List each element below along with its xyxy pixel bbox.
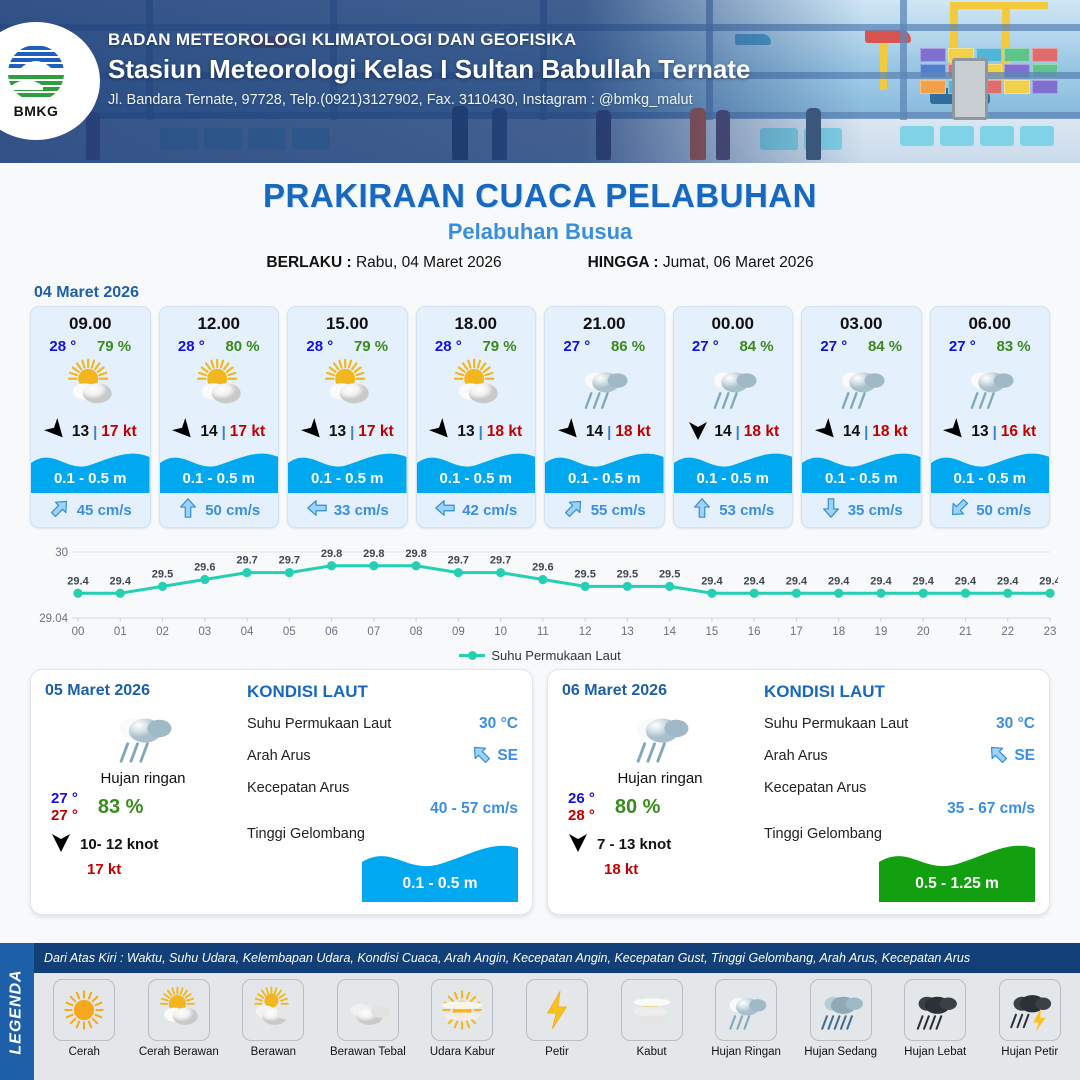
svg-text:10: 10 [494, 626, 507, 638]
daily-summary-panel: 06 Maret 2026 Hujan ringan 26 ° 28 ° 80 … [547, 669, 1050, 915]
forecast-humidity: 79 % [97, 338, 131, 355]
svg-text:23: 23 [1044, 626, 1057, 638]
summary-humidity: 83 % [98, 796, 144, 819]
svg-text:08: 08 [410, 626, 423, 638]
forecast-humidity: 79 % [482, 338, 516, 355]
legend-item: Hujan Petir [983, 979, 1076, 1058]
arrow-down-icon [177, 497, 199, 524]
summary-temps: 27 ° 27 ° 83 % [45, 790, 241, 824]
current-speed: 55 cm/s [591, 502, 646, 519]
forecast-current: 33 cm/s [288, 493, 407, 527]
udara-kabur-icon [431, 979, 493, 1041]
forecast-current: 55 cm/s [545, 493, 664, 527]
wind-gust: 17 kt [358, 423, 393, 441]
svg-text:21: 21 [959, 626, 972, 638]
berawan-tebal-icon [337, 979, 399, 1041]
svg-text:00: 00 [72, 626, 85, 638]
sst-chart-svg: 3029.0429.40029.40129.50229.60329.70429.… [22, 538, 1058, 646]
valid-until-label: HINGGA : [588, 254, 659, 271]
forecast-wave: 0.1 - 0.5 m [288, 447, 407, 493]
current-speed: 53 cm/s [719, 502, 774, 519]
wind-speed: 14 [586, 423, 603, 441]
hujan-petir-icon [999, 979, 1061, 1041]
wave-height: 0.1 - 0.5 m [545, 470, 664, 487]
svg-text:01: 01 [114, 626, 127, 638]
svg-text:02: 02 [156, 626, 169, 638]
forecast-temp-humidity: 28 ° 80 % [160, 334, 279, 355]
current-direction-row: Arah Arus SE [764, 740, 1035, 772]
station-name: Stasiun Meteorologi Kelas I Sultan Babul… [108, 54, 750, 85]
summary-gust: 17 kt [45, 861, 241, 878]
daily-summary-panel: 05 Maret 2026 Hujan ringan 27 ° 27 ° 83 … [30, 669, 533, 915]
summary-wave-value: 0.5 - 1.25 m [879, 875, 1035, 893]
cerah-icon [53, 979, 115, 1041]
forecast-wave: 0.1 - 0.5 m [160, 447, 279, 493]
current-direction-label: Arah Arus [247, 748, 311, 764]
svg-text:29.8: 29.8 [321, 548, 342, 560]
summary-temp-min: 26 ° [568, 790, 595, 807]
wind-gust: 18 kt [615, 423, 650, 441]
forecast-current: 35 cm/s [802, 493, 921, 527]
forecast-wind: 14 | 17 kt [160, 417, 279, 447]
wind-gust: 17 kt [230, 423, 265, 441]
svg-text:04: 04 [241, 626, 254, 638]
forecast-wind: 13 | 18 kt [417, 417, 536, 447]
svg-text:06: 06 [325, 626, 338, 638]
wave-height: 0.1 - 0.5 m [674, 470, 793, 487]
forecast-humidity: 86 % [611, 338, 645, 355]
svg-text:29.4: 29.4 [828, 575, 850, 587]
forecast-card: 18.00 28 ° 79 % 13 | 18 kt [416, 306, 537, 528]
forecast-wave: 0.1 - 0.5 m [802, 447, 921, 493]
current-speed-value: 35 - 67 cm/s [764, 800, 1035, 818]
current-speed-label: Kecepatan Arus [764, 780, 866, 796]
forecast-temperature: 28 ° [435, 338, 462, 355]
arrow-up-icon [820, 497, 842, 524]
hujan-ringan-icon [715, 979, 777, 1041]
forecast-temp-humidity: 27 ° 86 % [545, 334, 664, 355]
legend-item: Hujan Ringan [700, 979, 793, 1058]
forecast-temp-humidity: 27 ° 84 % [802, 334, 921, 355]
svg-text:29.4: 29.4 [870, 575, 892, 587]
wind-speed: 13 [72, 423, 89, 441]
forecast-temperature: 27 ° [563, 338, 590, 355]
svg-text:29.4: 29.4 [67, 575, 89, 587]
wind-speed: 14 [843, 423, 860, 441]
forecast-day-label: 04 Maret 2026 [34, 284, 1080, 302]
daily-summary-row: 05 Maret 2026 Hujan ringan 27 ° 27 ° 83 … [0, 669, 1080, 915]
svg-text:29.7: 29.7 [490, 555, 511, 567]
legend-note: Dari Atas Kiri : Waktu, Suhu Udara, Kele… [34, 943, 1080, 973]
svg-text:03: 03 [198, 626, 211, 638]
summary-temp-min: 27 ° [51, 790, 78, 807]
wind-speed: 14 [714, 423, 731, 441]
forecast-wind: 14 | 18 kt [545, 417, 664, 447]
summary-wave-shape: 0.1 - 0.5 m [362, 840, 518, 902]
legend-item-label: Berawan Tebal [330, 1046, 406, 1058]
forecast-wind: 14 | 18 kt [802, 417, 921, 447]
svg-text:29.5: 29.5 [574, 568, 595, 580]
wind-gust: 18 kt [487, 423, 522, 441]
agency-name: BADAN METEOROLOGI KLIMATOLOGI DAN GEOFIS… [108, 30, 750, 50]
valid-from-value: Rabu, 04 Maret 2026 [356, 254, 502, 271]
legend-item-label: Berawan [251, 1046, 296, 1058]
cerah-berawan-icon [417, 355, 536, 417]
forecast-card: 21.00 27 ° 86 % 14 | 18 kt [544, 306, 665, 528]
wave-height: 0.1 - 0.5 m [931, 470, 1050, 487]
cerah-berawan-icon [288, 355, 407, 417]
svg-text:29.7: 29.7 [236, 555, 257, 567]
forecast-time: 21.00 [545, 307, 664, 334]
arrow-south-icon [49, 831, 73, 858]
svg-text:29.4: 29.4 [913, 575, 935, 587]
svg-text:13: 13 [621, 626, 634, 638]
forecast-temp-humidity: 28 ° 79 % [288, 334, 407, 355]
wind-separator: | [350, 424, 354, 441]
legend-item: Berawan [227, 979, 320, 1058]
svg-text:29.5: 29.5 [617, 568, 638, 580]
summary-temps: 26 ° 28 ° 80 % [562, 790, 758, 824]
forecast-time: 15.00 [288, 307, 407, 334]
svg-text:15: 15 [706, 626, 719, 638]
forecast-card: 03.00 27 ° 84 % 14 | 18 kt [801, 306, 922, 528]
svg-text:12: 12 [579, 626, 592, 638]
arrow-se-icon [470, 743, 492, 770]
arrow-right-icon [306, 497, 328, 524]
svg-text:29.7: 29.7 [279, 555, 300, 567]
wave-height: 0.1 - 0.5 m [288, 470, 407, 487]
hujan-ringan-icon [562, 702, 758, 768]
summary-wind: 10- 12 knot [45, 831, 241, 858]
arrow-nw-icon [429, 419, 453, 446]
summary-temp-max: 28 ° [568, 807, 595, 824]
current-speed: 50 cm/s [976, 502, 1031, 519]
forecast-card: 00.00 27 ° 84 % 14 | 18 kt [673, 306, 794, 528]
legend-item-label: Hujan Sedang [804, 1046, 877, 1058]
bmkg-logo-text: BMKG [14, 103, 59, 119]
arrow-nw-icon [558, 419, 582, 446]
forecast-time: 09.00 [31, 307, 150, 334]
wave-height-label: Tinggi Gelombang [764, 826, 882, 842]
forecast-current: 42 cm/s [417, 493, 536, 527]
current-direction-label: Arah Arus [764, 748, 828, 764]
wind-speed: 13 [971, 423, 988, 441]
svg-text:09: 09 [452, 626, 465, 638]
summary-gust: 18 kt [562, 861, 758, 878]
summary-wave-value: 0.1 - 0.5 m [362, 875, 518, 893]
forecast-current: 50 cm/s [931, 493, 1050, 527]
chart-legend-marker [459, 654, 485, 657]
svg-text:17: 17 [790, 626, 803, 638]
summary-wave-shape: 0.5 - 1.25 m [879, 840, 1035, 902]
hujan-ringan-icon [802, 355, 921, 417]
chart-legend-label: Suhu Permukaan Laut [491, 648, 620, 663]
forecast-temperature: 27 ° [692, 338, 719, 355]
forecast-current: 50 cm/s [160, 493, 279, 527]
legend-icon-row: Cerah Cerah Berawan [34, 973, 1080, 1080]
svg-text:29.4: 29.4 [1039, 575, 1058, 587]
arrow-nw-icon [301, 419, 325, 446]
page-subtitle: Pelabuhan Busua [0, 219, 1080, 245]
wind-separator: | [93, 424, 97, 441]
page-title-block: PRAKIRAAN CUACA PELABUHAN Pelabuhan Busu… [0, 177, 1080, 272]
forecast-time: 18.00 [417, 307, 536, 334]
summary-date: 06 Maret 2026 [562, 682, 758, 700]
legend-side-title-text: LEGENDA [8, 969, 26, 1054]
summary-left: 06 Maret 2026 Hujan ringan 26 ° 28 ° 80 … [562, 682, 758, 904]
svg-text:07: 07 [367, 626, 380, 638]
current-direction-value-wrap: SE [987, 743, 1035, 770]
hujan-sedang-icon [810, 979, 872, 1041]
forecast-wave: 0.1 - 0.5 m [31, 447, 150, 493]
arrow-nw-icon [943, 419, 967, 446]
hujan-ringan-icon [545, 355, 664, 417]
svg-text:29.4: 29.4 [110, 575, 132, 587]
forecast-humidity: 79 % [354, 338, 388, 355]
cerah-berawan-icon [31, 355, 150, 417]
arrow-nw-icon [172, 419, 196, 446]
forecast-humidity: 84 % [868, 338, 902, 355]
summary-sea-conditions: KONDISI LAUT Suhu Permukaan Laut 30 °C A… [758, 682, 1035, 904]
summary-condition: Hujan ringan [562, 770, 758, 787]
wind-separator: | [864, 424, 868, 441]
summary-condition: Hujan ringan [45, 770, 241, 787]
forecast-wind: 13 | 16 kt [931, 417, 1050, 447]
arrow-sw-icon [563, 497, 585, 524]
page-title: PRAKIRAAN CUACA PELABUHAN [0, 177, 1080, 215]
forecast-humidity: 84 % [739, 338, 773, 355]
legend-item-label: Petir [545, 1046, 569, 1058]
svg-text:29.7: 29.7 [448, 555, 469, 567]
cerah-berawan-icon [160, 355, 279, 417]
forecast-card: 06.00 27 ° 83 % 13 | 16 kt [930, 306, 1051, 528]
svg-text:22: 22 [1001, 626, 1014, 638]
forecast-card: 15.00 28 ° 79 % 13 | 17 kt [287, 306, 408, 528]
current-speed: 45 cm/s [77, 502, 132, 519]
legend-item-label: Kabut [637, 1046, 667, 1058]
station-address: Jl. Bandara Ternate, 97728, Telp.(0921)3… [108, 92, 750, 108]
svg-text:14: 14 [663, 626, 676, 638]
summary-wind-speed: 10- 12 knot [80, 836, 158, 853]
legend-item-label: Hujan Ringan [711, 1046, 781, 1058]
berawan-icon [242, 979, 304, 1041]
validity-row: BERLAKU : Rabu, 04 Maret 2026 HINGGA : J… [0, 254, 1080, 272]
forecast-temperature: 28 ° [306, 338, 333, 355]
summary-wind-speed: 7 - 13 knot [597, 836, 671, 853]
sst-chart: 3029.0429.40029.40129.50229.60329.70429.… [22, 538, 1058, 646]
summary-humidity: 80 % [615, 796, 661, 819]
summary-temp-max: 27 ° [51, 807, 78, 824]
forecast-wind: 14 | 18 kt [674, 417, 793, 447]
legend-item: Kabut [605, 979, 698, 1058]
legend-item: Cerah [38, 979, 131, 1058]
forecast-card: 12.00 28 ° 80 % 14 | 17 kt [159, 306, 280, 528]
legend-item-label: Cerah [69, 1046, 100, 1058]
forecast-temp-humidity: 28 ° 79 % [417, 334, 536, 355]
legend-item: Hujan Lebat [889, 979, 982, 1058]
legend-main: Dari Atas Kiri : Waktu, Suhu Udara, Kele… [34, 943, 1080, 1080]
current-speed-value: 40 - 57 cm/s [247, 800, 518, 818]
valid-from-label: BERLAKU : [266, 254, 351, 271]
forecast-time: 03.00 [802, 307, 921, 334]
forecast-time: 12.00 [160, 307, 279, 334]
current-direction-value: SE [497, 747, 518, 765]
sst-label: Suhu Permukaan Laut [247, 716, 391, 732]
summary-date: 05 Maret 2026 [45, 682, 241, 700]
arrow-right-icon [434, 497, 456, 524]
forecast-wind: 13 | 17 kt [31, 417, 150, 447]
svg-text:20: 20 [917, 626, 930, 638]
current-speed: 33 cm/s [334, 502, 389, 519]
forecast-temp-humidity: 27 ° 84 % [674, 334, 793, 355]
forecast-humidity: 80 % [225, 338, 259, 355]
legend-item: Udara Kabur [416, 979, 509, 1058]
current-speed-label: Kecepatan Arus [247, 780, 349, 796]
svg-text:29.4: 29.4 [786, 575, 808, 587]
legend-side-title: LEGENDA [0, 943, 34, 1080]
summary-temp-range: 27 ° 27 ° [51, 790, 78, 824]
svg-text:29.4: 29.4 [743, 575, 765, 587]
cerah-berawan-icon [148, 979, 210, 1041]
current-speed: 35 cm/s [848, 502, 903, 519]
sst-label: Suhu Permukaan Laut [764, 716, 908, 732]
current-direction-row: Arah Arus SE [247, 740, 518, 772]
sst-row: Suhu Permukaan Laut 30 °C [247, 708, 518, 740]
petir-icon [526, 979, 588, 1041]
arrow-ne-icon [948, 497, 970, 524]
summary-wind: 7 - 13 knot [562, 831, 758, 858]
forecast-card: 09.00 28 ° 79 % 13 | 17 kt [30, 306, 151, 528]
forecast-temperature: 27 ° [949, 338, 976, 355]
wind-separator: | [736, 424, 740, 441]
wind-separator: | [993, 424, 997, 441]
forecast-wave: 0.1 - 0.5 m [674, 447, 793, 493]
sst-value: 30 °C [479, 715, 518, 733]
forecast-current: 45 cm/s [31, 493, 150, 527]
legend-item-label: Udara Kabur [430, 1046, 495, 1058]
hujan-ringan-icon [931, 355, 1050, 417]
header-text-block: BADAN METEOROLOGI KLIMATOLOGI DAN GEOFIS… [108, 30, 750, 108]
sea-conditions-title: KONDISI LAUT [764, 682, 1035, 702]
arrow-se-icon [987, 743, 1009, 770]
forecast-wave: 0.1 - 0.5 m [545, 447, 664, 493]
forecast-temperature: 28 ° [178, 338, 205, 355]
svg-text:16: 16 [748, 626, 761, 638]
forecast-temperature: 28 ° [49, 338, 76, 355]
wind-gust: 17 kt [101, 423, 136, 441]
svg-text:29.4: 29.4 [997, 575, 1019, 587]
valid-from: BERLAKU : Rabu, 04 Maret 2026 [266, 254, 501, 272]
wind-speed: 14 [200, 423, 217, 441]
wind-gust: 18 kt [872, 423, 907, 441]
legend-item: Berawan Tebal [322, 979, 415, 1058]
current-speed: 42 cm/s [462, 502, 517, 519]
hujan-ringan-icon [45, 702, 241, 768]
legend-item: Hujan Sedang [794, 979, 887, 1058]
summary-temp-range: 26 ° 28 ° [568, 790, 595, 824]
svg-text:29.6: 29.6 [194, 562, 215, 574]
valid-until: HINGGA : Jumat, 06 Maret 2026 [588, 254, 814, 272]
forecast-time: 06.00 [931, 307, 1050, 334]
svg-text:11: 11 [537, 626, 549, 638]
wind-speed: 13 [329, 423, 346, 441]
valid-until-value: Jumat, 06 Maret 2026 [663, 254, 814, 271]
svg-text:29.4: 29.4 [955, 575, 977, 587]
svg-text:29.8: 29.8 [363, 548, 384, 560]
forecast-temperature: 27 ° [820, 338, 847, 355]
wind-separator: | [479, 424, 483, 441]
forecast-time: 00.00 [674, 307, 793, 334]
current-speed: 50 cm/s [205, 502, 260, 519]
arrow-nw-icon [815, 419, 839, 446]
svg-text:29.6: 29.6 [532, 562, 553, 574]
wind-separator: | [607, 424, 611, 441]
legend-item: Cerah Berawan [133, 979, 226, 1058]
wind-speed: 13 [457, 423, 474, 441]
current-direction-value: SE [1014, 747, 1035, 765]
sst-value: 30 °C [996, 715, 1035, 733]
header-banner: BMKG BADAN METEOROLOGI KLIMATOLOGI DAN G… [0, 0, 1080, 163]
svg-text:18: 18 [832, 626, 845, 638]
forecast-temp-humidity: 28 ° 79 % [31, 334, 150, 355]
legend-item: Petir [511, 979, 604, 1058]
forecast-wind: 13 | 17 kt [288, 417, 407, 447]
svg-text:29.5: 29.5 [152, 568, 173, 580]
svg-text:29.04: 29.04 [39, 613, 68, 625]
summary-left: 05 Maret 2026 Hujan ringan 27 ° 27 ° 83 … [45, 682, 241, 904]
arrow-nw-icon [44, 419, 68, 446]
arrow-south-icon [686, 419, 710, 446]
wave-height: 0.1 - 0.5 m [417, 470, 536, 487]
svg-text:29.4: 29.4 [701, 575, 723, 587]
svg-text:30: 30 [55, 547, 68, 559]
wave-height: 0.1 - 0.5 m [31, 470, 150, 487]
forecast-humidity: 83 % [996, 338, 1030, 355]
wind-separator: | [222, 424, 226, 441]
forecast-wave: 0.1 - 0.5 m [931, 447, 1050, 493]
svg-text:29.8: 29.8 [405, 548, 426, 560]
hujan-lebat-icon [904, 979, 966, 1041]
wave-height-label: Tinggi Gelombang [247, 826, 365, 842]
current-direction-value-wrap: SE [470, 743, 518, 770]
summary-sea-conditions: KONDISI LAUT Suhu Permukaan Laut 30 °C A… [241, 682, 518, 904]
sea-conditions-title: KONDISI LAUT [247, 682, 518, 702]
legend-item-label: Cerah Berawan [139, 1046, 219, 1058]
chart-legend: Suhu Permukaan Laut [0, 648, 1080, 663]
sst-row: Suhu Permukaan Laut 30 °C [764, 708, 1035, 740]
arrow-south-icon [566, 831, 590, 858]
bmkg-logo-mark [5, 44, 67, 102]
svg-text:05: 05 [283, 626, 296, 638]
wind-gust: 18 kt [744, 423, 779, 441]
wind-gust: 16 kt [1001, 423, 1036, 441]
forecast-current: 53 cm/s [674, 493, 793, 527]
svg-text:29.5: 29.5 [659, 568, 680, 580]
kabut-icon [621, 979, 683, 1041]
arrow-down-icon [691, 497, 713, 524]
wave-height: 0.1 - 0.5 m [160, 470, 279, 487]
legend-section: LEGENDA Dari Atas Kiri : Waktu, Suhu Uda… [0, 943, 1080, 1080]
legend-item-label: Hujan Lebat [904, 1046, 966, 1058]
forecast-card-row: 09.00 28 ° 79 % 13 | 17 kt [0, 306, 1080, 528]
arrow-sw-icon [49, 497, 71, 524]
legend-item-label: Hujan Petir [1001, 1046, 1058, 1058]
forecast-temp-humidity: 27 ° 83 % [931, 334, 1050, 355]
hujan-ringan-icon [674, 355, 793, 417]
forecast-wave: 0.1 - 0.5 m [417, 447, 536, 493]
wave-height: 0.1 - 0.5 m [802, 470, 921, 487]
svg-text:19: 19 [875, 626, 888, 638]
